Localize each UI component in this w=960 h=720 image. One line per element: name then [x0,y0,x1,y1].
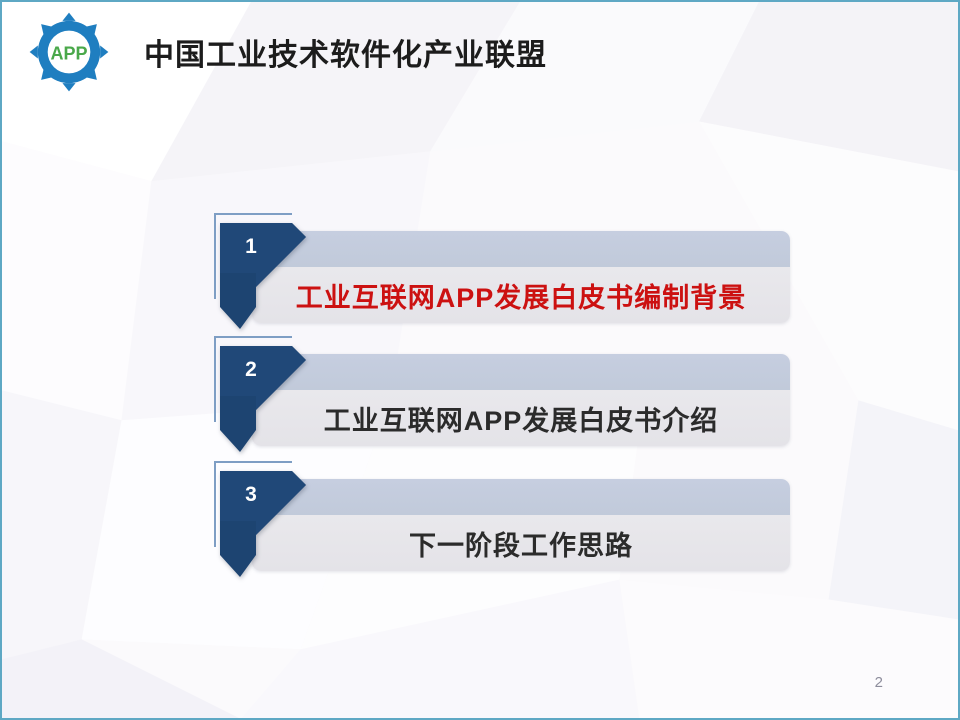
agenda-number-badge-2 [220,346,306,452]
slide-header: APP 中国工业技术软件化产业联盟 [2,2,960,102]
agenda-item-label-1: 工业互联网APP发展白皮书编制背景 [252,231,790,323]
agenda-item-label-3: 下一阶段工作思路 [252,479,790,571]
agenda-item-1[interactable]: 工业互联网APP发展白皮书编制背景 1 [210,213,790,331]
slide-canvas: APP 中国工业技术软件化产业联盟 工业互联网APP发展白皮书编制背景 1 [0,0,960,720]
ribbon-flag-shape [220,471,306,577]
ribbon-flag-shape [220,346,306,452]
page-title: 中国工业技术软件化产业联盟 [144,30,547,74]
agenda-item-label-2: 工业互联网APP发展白皮书介绍 [252,354,790,446]
agenda-item-2[interactable]: 工业互联网APP发展白皮书介绍 2 [210,336,790,454]
ribbon-flag-shape [220,223,306,329]
gear-icon: APP [28,11,110,93]
agenda-list: 工业互联网APP发展白皮书编制背景 1 工业互联网APP发展白皮书介绍 [2,2,960,720]
agenda-number-badge-3 [220,471,306,577]
page-number: 2 [875,674,883,691]
agenda-item-3[interactable]: 下一阶段工作思路 3 [210,461,790,579]
agenda-number-badge-1 [220,223,306,329]
app-gear-logo: APP [28,11,110,93]
logo-app-text: APP [50,43,87,63]
